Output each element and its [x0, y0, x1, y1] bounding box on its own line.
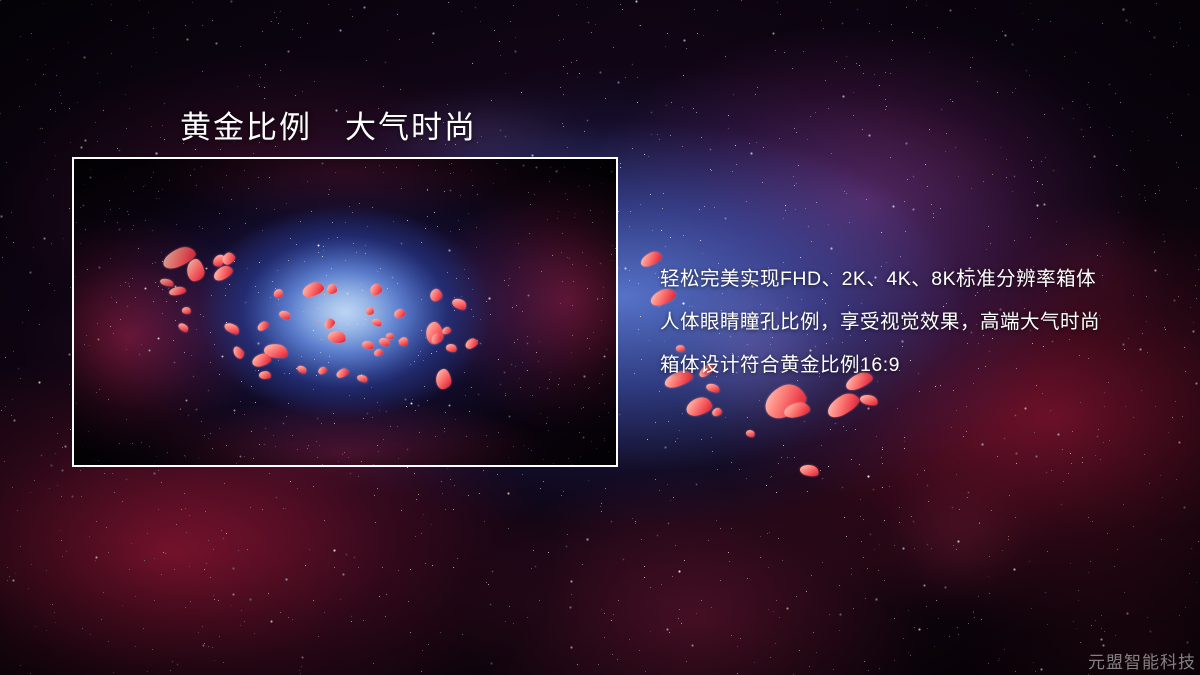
body-line-2: 人体眼睛瞳孔比例，享受视觉效果，高端大气时尚: [660, 301, 1100, 344]
page-title: 黄金比例 大气时尚: [180, 102, 477, 147]
watermark: 元盟智能科技: [1088, 648, 1196, 673]
slide-root: 黄金比例 大气时尚 轻松完美实现FHD、2K、4K、8K标准分辨率箱体 人体眼睛…: [0, 0, 1200, 675]
framed-image-panel[interactable]: [72, 157, 618, 467]
body-line-3: 箱体设计符合黄金比例16:9: [660, 344, 1100, 387]
panel-vignette: [74, 159, 616, 465]
body-line-1: 轻松完美实现FHD、2K、4K、8K标准分辨率箱体: [660, 258, 1100, 301]
body-text-block: 轻松完美实现FHD、2K、4K、8K标准分辨率箱体 人体眼睛瞳孔比例，享受视觉效…: [660, 258, 1100, 387]
